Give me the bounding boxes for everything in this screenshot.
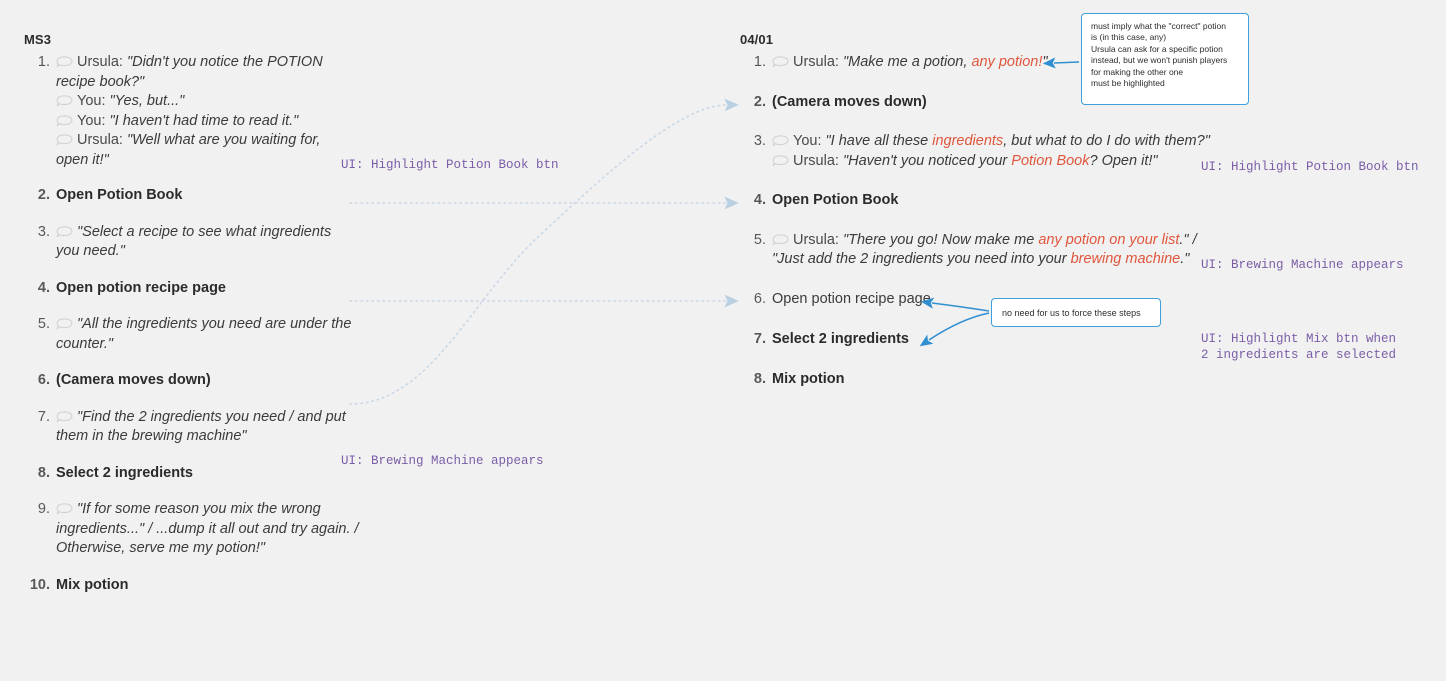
speech-bubble-icon: [772, 56, 789, 67]
line-dialog: "Make me a potion, any potion!": [843, 54, 1048, 70]
highlighted-term: brewing machine: [1071, 251, 1181, 267]
line-text: Open Potion Book: [772, 192, 898, 208]
line-text: Select 2 ingredients: [772, 331, 909, 347]
line-text: "Just add the 2 ingredients you need int…: [772, 251, 1071, 267]
step-line: Ursula: "Didn't you notice the POTION re…: [56, 53, 354, 92]
line-text: "Make me a potion,: [843, 54, 971, 70]
speech-bubble-icon: [772, 135, 789, 146]
line-speaker: Ursula:: [793, 232, 843, 248]
highlighted-term: Potion Book: [1011, 153, 1089, 169]
speech-bubble-icon: [56, 503, 73, 514]
line-speaker: You:: [793, 133, 826, 149]
step-line: Mix potion: [772, 370, 1420, 390]
callout-potion-requirements: must imply what the "correct" potion is …: [1081, 13, 1249, 105]
step-item: "If for some reason you mix the wrong in…: [24, 500, 364, 559]
step-line: "If for some reason you mix the wrong in…: [56, 500, 364, 559]
line-text: ": [1042, 54, 1047, 70]
step-item: Open potion recipe page: [24, 279, 544, 299]
ui-annotation: UI: Highlight Potion Book btn: [341, 157, 559, 173]
step-item: Open Potion Book: [24, 186, 544, 206]
line-text: (Camera moves down): [56, 372, 211, 388]
step-line: You: "Yes, but...": [56, 92, 354, 112]
line-speaker: Ursula:: [77, 132, 127, 148]
line-text: Mix potion: [772, 371, 845, 387]
step-item: Open Potion Book: [740, 191, 1420, 211]
line-text: ." /: [1179, 232, 1196, 248]
speech-bubble-icon: [56, 95, 73, 106]
line-speaker: You:: [77, 113, 110, 129]
line-text: Select 2 ingredients: [56, 465, 193, 481]
speech-bubble-icon: [772, 155, 789, 166]
line-dialog: "Haven't you noticed your Potion Book? O…: [843, 153, 1158, 169]
step-line: You: "I haven't had time to read it.": [56, 112, 354, 132]
callout-line: is (in this case, any): [1091, 32, 1240, 43]
callout-line: no need for us to force these steps: [1002, 307, 1141, 319]
line-dialog: "There you go! Now make me any potion on…: [843, 232, 1197, 248]
line-dialog: "Yes, but...": [110, 93, 185, 109]
speech-bubble-icon: [56, 411, 73, 422]
step-item: Ursula: "Didn't you notice the POTION re…: [24, 53, 354, 170]
speech-bubble-icon: [56, 226, 73, 237]
step-item: (Camera moves down): [24, 371, 544, 391]
line-dialog: "I have all these ingredients, but what …: [826, 133, 1210, 149]
ui-annotation: UI: Brewing Machine appears: [1201, 257, 1404, 273]
callout-line: must be highlighted: [1091, 78, 1240, 89]
line-text: Open potion recipe page: [772, 291, 931, 307]
step-line: Ursula: "Well what are you waiting for, …: [56, 131, 354, 170]
line-text: Open Potion Book: [56, 187, 182, 203]
line-text: Open potion recipe page: [56, 280, 226, 296]
line-text: .": [1180, 251, 1189, 267]
speech-bubble-icon: [772, 234, 789, 245]
ui-annotation: UI: Highlight Potion Book btn: [1201, 159, 1419, 175]
step-line: "All the ingredients you need are under …: [56, 315, 354, 354]
left-column: MS3 Ursula: "Didn't you notice the POTIO…: [24, 32, 544, 609]
line-dialog: "Just add the 2 ingredients you need int…: [772, 251, 1189, 267]
ui-annotation: UI: Highlight Mix btn when 2 ingredients…: [1201, 331, 1396, 363]
line-speaker: Ursula:: [793, 153, 843, 169]
step-item: "Find the 2 ingredients you need / and p…: [24, 408, 354, 447]
callout-line: Ursula can ask for a specific potion: [1091, 44, 1240, 55]
speech-bubble-icon: [56, 318, 73, 329]
line-speaker: Ursula:: [77, 54, 127, 70]
step-line: "Select a recipe to see what ingredients…: [56, 223, 354, 262]
step-line: Open potion recipe page: [56, 279, 544, 299]
bottom-strip: [0, 681, 1446, 691]
callout-line: for making the other one: [1091, 67, 1240, 78]
callout-line: must imply what the "correct" potion: [1091, 21, 1240, 32]
line-text: "Haven't you noticed your: [843, 153, 1011, 169]
step-item: Mix potion: [740, 370, 1420, 390]
ui-annotation: UI: Brewing Machine appears: [341, 453, 544, 469]
line-dialog: "Find the 2 ingredients you need / and p…: [56, 409, 346, 445]
callout-no-force-steps: no need for us to force these steps: [991, 298, 1161, 327]
speech-bubble-icon: [56, 134, 73, 145]
line-dialog: "Select a recipe to see what ingredients…: [56, 224, 331, 260]
line-speaker: Ursula:: [793, 54, 843, 70]
callout-line: instead, but we won't punish players: [1091, 55, 1240, 66]
step-line: You: "I have all these ingredients, but …: [772, 132, 1420, 152]
line-dialog: "All the ingredients you need are under …: [56, 316, 351, 352]
speech-bubble-icon: [56, 56, 73, 67]
step-item: "All the ingredients you need are under …: [24, 315, 354, 354]
line-dialog: "If for some reason you mix the wrong in…: [56, 501, 359, 556]
line-text: Mix potion: [56, 577, 129, 593]
step-line: Open Potion Book: [56, 186, 544, 206]
step-line: Open Potion Book: [772, 191, 1420, 211]
line-text: "I have all these: [826, 133, 933, 149]
left-step-list: Ursula: "Didn't you notice the POTION re…: [24, 53, 544, 595]
speech-bubble-icon: [56, 115, 73, 126]
step-item: (Camera moves down): [740, 93, 1420, 113]
line-text: (Camera moves down): [772, 94, 927, 110]
step-item: Mix potion: [24, 576, 544, 596]
step-line: Ursula: "There you go! Now make me any p…: [772, 231, 1420, 251]
line-text: , but what to do I do with them?": [1003, 133, 1210, 149]
step-line: Mix potion: [56, 576, 544, 596]
step-line: (Camera moves down): [56, 371, 544, 391]
line-text: "There you go! Now make me: [843, 232, 1038, 248]
step-item: Ursula: "Make me a potion, any potion!": [740, 53, 1420, 73]
step-line: "Find the 2 ingredients you need / and p…: [56, 408, 354, 447]
highlighted-term: any potion!: [971, 54, 1042, 70]
line-text: ? Open it!": [1090, 153, 1158, 169]
highlighted-term: ingredients: [932, 133, 1003, 149]
line-dialog: "I haven't had time to read it.": [110, 113, 299, 129]
left-column-title: MS3: [24, 32, 544, 47]
line-speaker: You:: [77, 93, 110, 109]
step-item: "Select a recipe to see what ingredients…: [24, 223, 354, 262]
right-column-title: 04/01: [740, 32, 1420, 47]
highlighted-term: any potion on your list: [1038, 232, 1179, 248]
